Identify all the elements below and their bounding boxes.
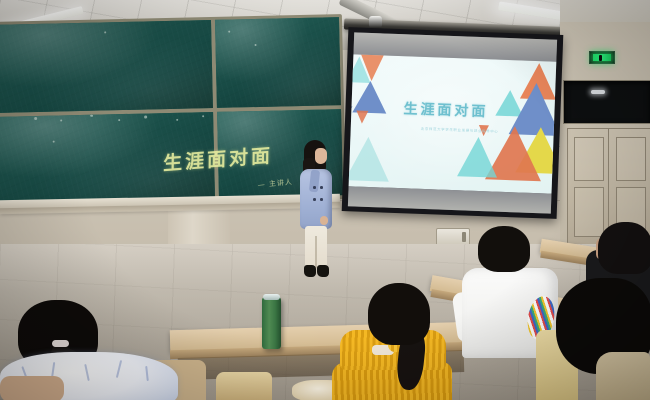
- presenter-face: [315, 148, 327, 164]
- triangle-decor: [356, 110, 368, 123]
- slide-title: 生涯面对面: [403, 98, 489, 121]
- student-hair: [368, 283, 430, 345]
- student-hair: [478, 226, 530, 272]
- thermos-cap: [263, 294, 280, 300]
- blackboard: 生涯面对面 — 主讲人: [0, 14, 346, 207]
- projection-screen: 生涯面对面 北京师范大学学生职业发展与就业指导中心: [342, 27, 564, 219]
- student-khaki-shoulder: [596, 352, 650, 400]
- student-hair: [598, 222, 650, 274]
- thermos-bottle[interactable]: [262, 297, 281, 349]
- presenter-hands: [320, 216, 328, 225]
- door-panel: [616, 137, 646, 181]
- triangle-decor: [349, 56, 372, 83]
- presentation-slide: 生涯面对面 北京师范大学学生职业发展与就业指导中心: [349, 54, 557, 193]
- exit-icon: [593, 54, 611, 61]
- classroom-photo: 生涯面对面 — 主讲人: [0, 0, 650, 400]
- rear-dark-window: [563, 80, 650, 124]
- triangle-decor: [349, 106, 353, 116]
- hair-tie: [52, 340, 69, 347]
- student-hand: [0, 376, 64, 400]
- presenter-shoe: [317, 265, 329, 277]
- blackboard-panel: [0, 20, 213, 113]
- presenter-shoe: [304, 265, 316, 277]
- triangle-decor: [349, 136, 391, 182]
- classroom-chair: [216, 372, 272, 400]
- projector-mount-bracket: [369, 16, 382, 28]
- exit-sign: [589, 51, 615, 64]
- door-panel: [574, 137, 604, 181]
- window-reflection: [591, 90, 605, 94]
- triangle-decor: [457, 136, 498, 177]
- trouser-crease: [315, 236, 317, 268]
- presenter: [296, 140, 342, 286]
- projection-screen-surface: 生涯面对面 北京师范大学学生职业发展与就业指导中心: [348, 32, 557, 213]
- blackboard-panel: [215, 17, 341, 108]
- triangle-decor: [352, 80, 387, 113]
- running-man-icon: [599, 55, 602, 61]
- door-panel: [574, 187, 604, 237]
